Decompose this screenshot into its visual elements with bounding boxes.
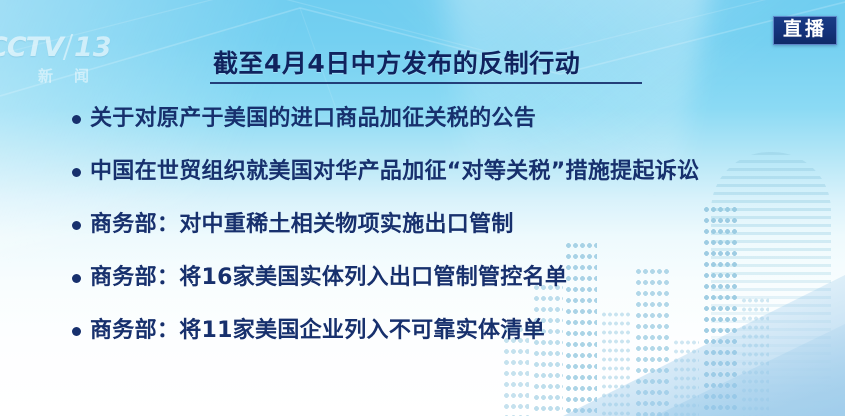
list-item: 商务部：将16家美国实体列入出口管制管控名单 (72, 262, 832, 315)
list-item-label: 关于对原产于美国的进口商品加征关税的公告 (90, 103, 536, 135)
list-item: 商务部：对中重稀土相关物项实施出口管制 (72, 209, 832, 262)
page-title: 截至4月4日中方发布的反制行动 (213, 44, 580, 80)
bullet-dot-icon (72, 221, 81, 230)
bullet-list: 关于对原产于美国的进口商品加征关税的公告 中国在世贸组织就美国对华产品加征“对等… (72, 103, 832, 368)
title-underline (210, 82, 642, 84)
broadcast-graphic: CCTV 13 新 闻 直播 截至4月4日中方发布的反制行动 关于对原产于美国的… (0, 0, 845, 416)
list-item-label: 中国在世贸组织就美国对华产品加征“对等关税”措施提起诉讼 (90, 156, 699, 188)
list-item: 中国在世贸组织就美国对华产品加征“对等关税”措施提起诉讼 (72, 156, 832, 209)
bullet-dot-icon (72, 168, 81, 177)
bullet-dot-icon (72, 274, 81, 283)
bullet-dot-icon (72, 327, 81, 336)
list-item-label: 商务部：将11家美国企业列入不可靠实体清单 (90, 315, 545, 347)
list-item: 商务部：将11家美国企业列入不可靠实体清单 (72, 315, 832, 368)
list-item-label: 商务部：对中重稀土相关物项实施出口管制 (90, 209, 514, 241)
list-item-label: 商务部：将16家美国实体列入出口管制管控名单 (90, 262, 567, 294)
live-badge: 直播 (773, 16, 837, 45)
bullet-dot-icon (72, 115, 81, 124)
list-item: 关于对原产于美国的进口商品加征关税的公告 (72, 103, 832, 156)
